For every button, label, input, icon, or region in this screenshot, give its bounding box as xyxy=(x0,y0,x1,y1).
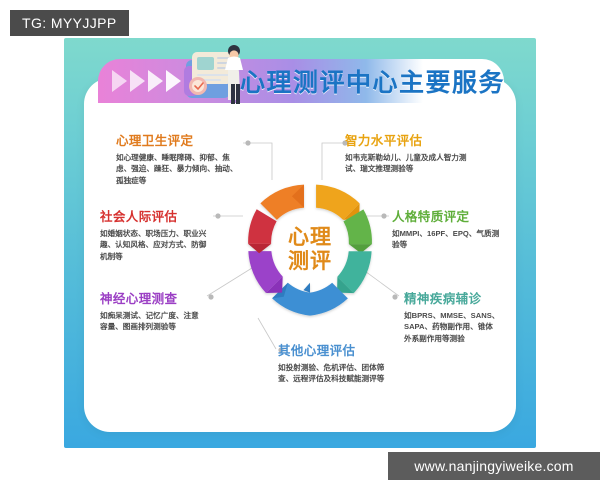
service-item-body: 如婚姻状态、职场压力、职业兴趣、认知风格、应对方式、防御机制等 xyxy=(100,228,212,262)
service-item-body: 如BPRS、MMSE、SANS、SAPA、药物副作用、锥体外系副作用等测验 xyxy=(404,310,500,344)
donut-segment-neuro xyxy=(248,251,282,293)
donut-segment-other xyxy=(272,283,348,316)
service-item-title: 精神疾病辅诊 xyxy=(404,288,500,307)
donut-segment-social xyxy=(248,209,276,253)
play-arrow-icon xyxy=(166,70,181,92)
service-item-body: 如痴呆测试、记忆广度、注意容量、图画排列测验等 xyxy=(100,310,204,333)
play-arrow-icon xyxy=(112,70,127,92)
service-item-social[interactable]: 社会人际评估 如婚姻状态、职场压力、职业兴趣、认知风格、应对方式、防御机制等 xyxy=(100,206,212,262)
donut-segment-intelligence xyxy=(316,185,360,220)
service-item-title: 心理卫生评定 xyxy=(116,130,238,149)
service-item-body: 如投射测验、危机评估、团体筛查、远程评估及科技赋能测评等 xyxy=(278,362,394,385)
service-item-psychiatric[interactable]: 精神疾病辅诊 如BPRS、MMSE、SANS、SAPA、药物副作用、锥体外系副作… xyxy=(404,288,500,344)
service-item-other[interactable]: 其他心理评估 如投射测验、危机评估、团体筛查、远程评估及科技赋能测评等 xyxy=(278,340,394,385)
service-item-title: 神经心理测查 xyxy=(100,288,204,307)
service-item-neuro[interactable]: 神经心理测查 如痴呆测试、记忆广度、注意容量、图画排列测验等 xyxy=(100,288,204,333)
service-item-title: 智力水平评估 xyxy=(345,130,473,149)
service-item-title: 社会人际评估 xyxy=(100,206,212,225)
page-title: 心理测评中心主要服务 xyxy=(240,63,505,99)
service-item-mental-health[interactable]: 心理卫生评定 如心理健康、睡眠障碍、抑郁、焦虑、强迫、躁狂、暴力倾向、抽动、孤独… xyxy=(116,130,238,186)
arrow-group xyxy=(112,70,181,92)
service-item-intelligence[interactable]: 智力水平评估 如韦克斯勒幼儿、儿童及成人智力测试、瑞文推理测验等 xyxy=(345,130,473,175)
service-item-body: 如MMPI、16PF、EPQ、气质测验等 xyxy=(392,228,502,251)
service-item-body: 如韦克斯勒幼儿、儿童及成人智力测试、瑞文推理测验等 xyxy=(345,152,473,175)
site-url-watermark: www.nanjingyiweike.com xyxy=(388,452,600,480)
service-item-body: 如心理健康、睡眠障碍、抑郁、焦虑、强迫、躁狂、暴力倾向、抽动、孤独症等 xyxy=(116,152,238,186)
poster-root: 心理测评中心主要服务 xyxy=(0,0,600,480)
play-arrow-icon xyxy=(148,70,163,92)
tg-watermark-badge: TG: MYYJJPP xyxy=(10,10,129,36)
service-item-title: 人格特质评定 xyxy=(392,206,502,225)
play-arrow-icon xyxy=(130,70,145,92)
service-item-personality[interactable]: 人格特质评定 如MMPI、16PF、EPQ、气质测验等 xyxy=(392,206,502,251)
service-item-title: 其他心理评估 xyxy=(278,340,394,359)
service-donut-chart xyxy=(228,168,392,332)
donut-segment-psychiatric xyxy=(337,251,372,293)
